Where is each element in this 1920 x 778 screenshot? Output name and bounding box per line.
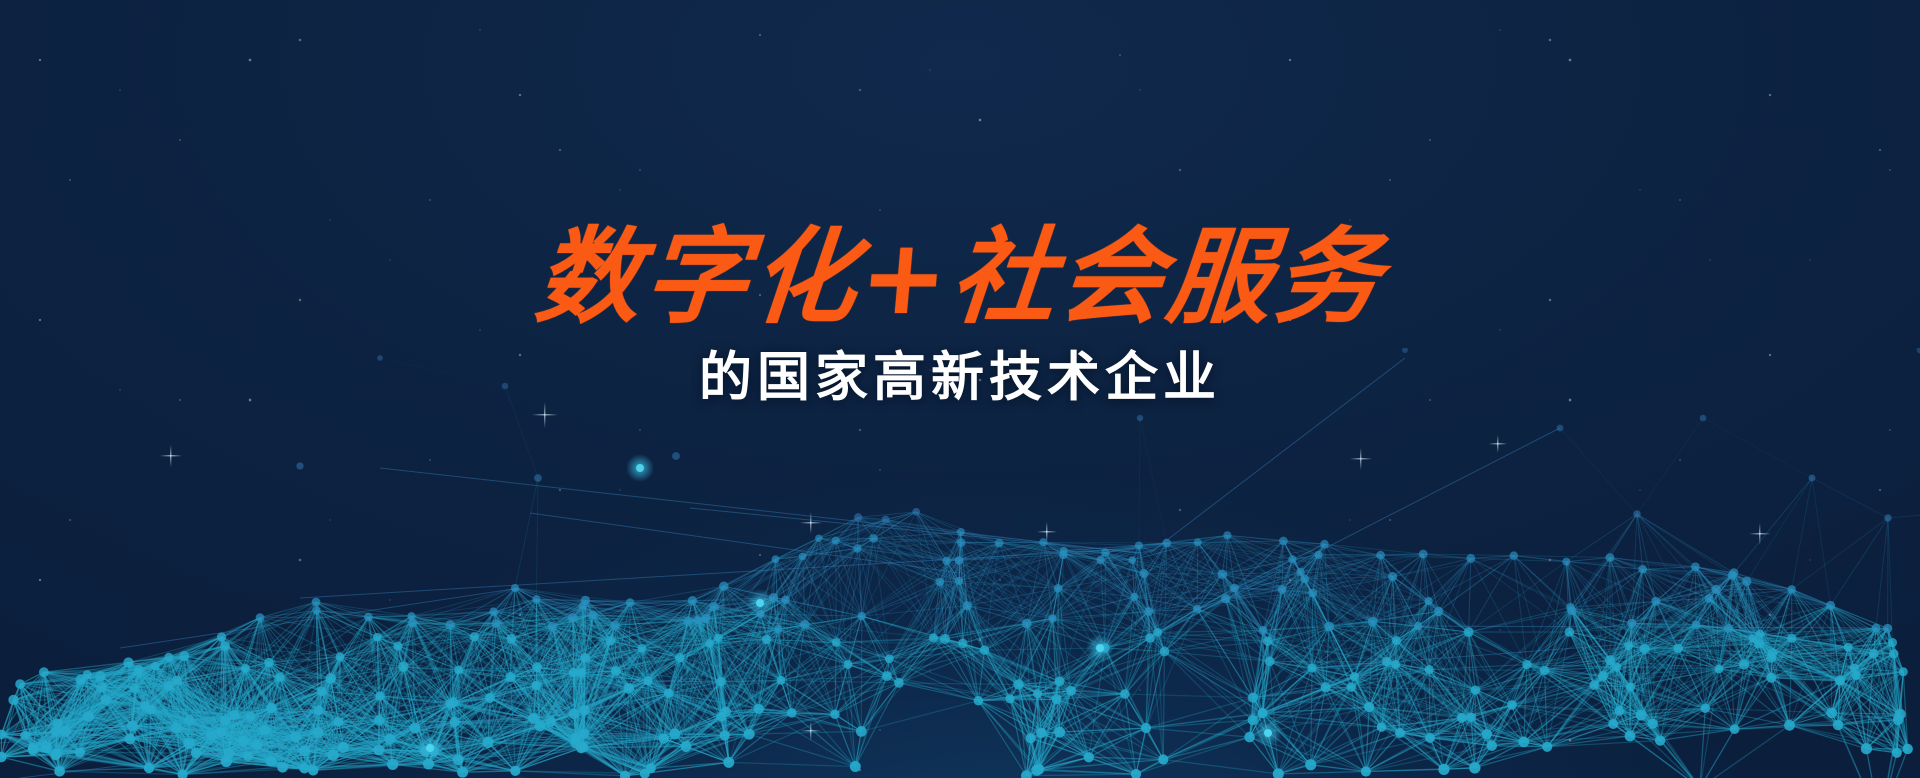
hero-text-block: 数字化+社会服务 的国家高新技术企业 xyxy=(0,222,1920,407)
network-constellation-graphic xyxy=(0,348,1920,778)
page-subtitle: 的国家高新技术企业 xyxy=(0,348,1920,406)
page-title: 数字化+社会服务 xyxy=(0,222,1920,332)
hero-banner: 数字化+社会服务 的国家高新技术企业 xyxy=(0,0,1920,778)
